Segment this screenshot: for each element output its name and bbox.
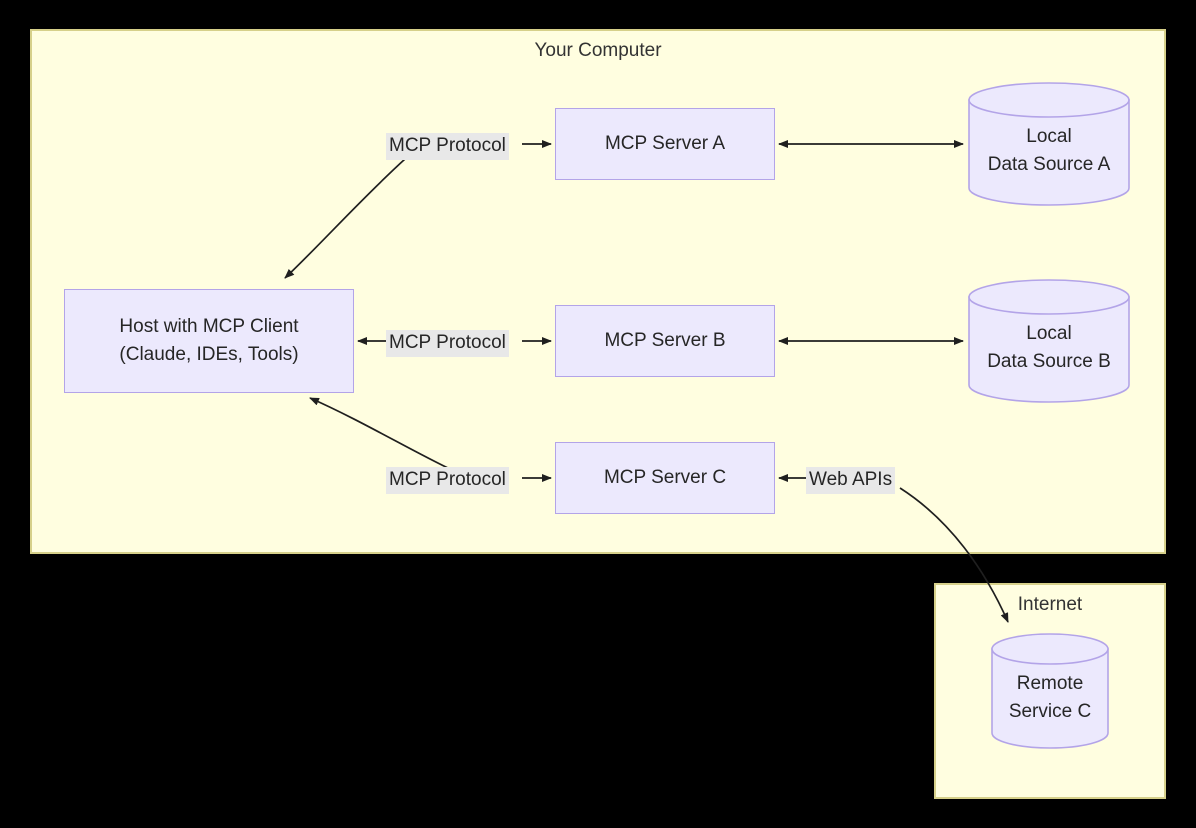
edge-label-mcp-protocol-c: MCP Protocol	[386, 467, 509, 494]
node-local-data-source-b[interactable]: Local Data Source B	[967, 278, 1131, 404]
node-host-label-line-2: (Claude, IDEs, Tools)	[119, 341, 298, 369]
node-mcp-server-c-label: MCP Server C	[604, 464, 726, 492]
node-remote-service-c[interactable]: Remote Service C	[990, 632, 1110, 750]
node-host-label-line-1: Host with MCP Client	[119, 313, 298, 341]
node-mcp-server-a[interactable]: MCP Server A	[555, 108, 775, 180]
diagram-canvas: Your Computer Internet	[0, 0, 1196, 828]
node-mcp-server-b[interactable]: MCP Server B	[555, 305, 775, 377]
cylinder-shape	[967, 278, 1131, 404]
edge-server-a-to-host	[285, 159, 405, 278]
node-mcp-server-c[interactable]: MCP Server C	[555, 442, 775, 514]
cylinder-shape	[990, 632, 1110, 750]
node-host-with-mcp-client[interactable]: Host with MCP Client (Claude, IDEs, Tool…	[64, 289, 354, 393]
node-mcp-server-a-label: MCP Server A	[605, 130, 725, 158]
edge-label-mcp-protocol-a: MCP Protocol	[386, 133, 509, 160]
edge-server-c-to-remote-service-c	[900, 488, 1008, 622]
node-local-data-source-a[interactable]: Local Data Source A	[967, 81, 1131, 207]
cylinder-shape	[967, 81, 1131, 207]
node-mcp-server-b-label: MCP Server B	[604, 327, 725, 355]
edge-label-web-apis: Web APIs	[806, 467, 895, 494]
edge-label-mcp-protocol-b: MCP Protocol	[386, 330, 509, 357]
edge-server-c-to-host	[310, 398, 452, 470]
